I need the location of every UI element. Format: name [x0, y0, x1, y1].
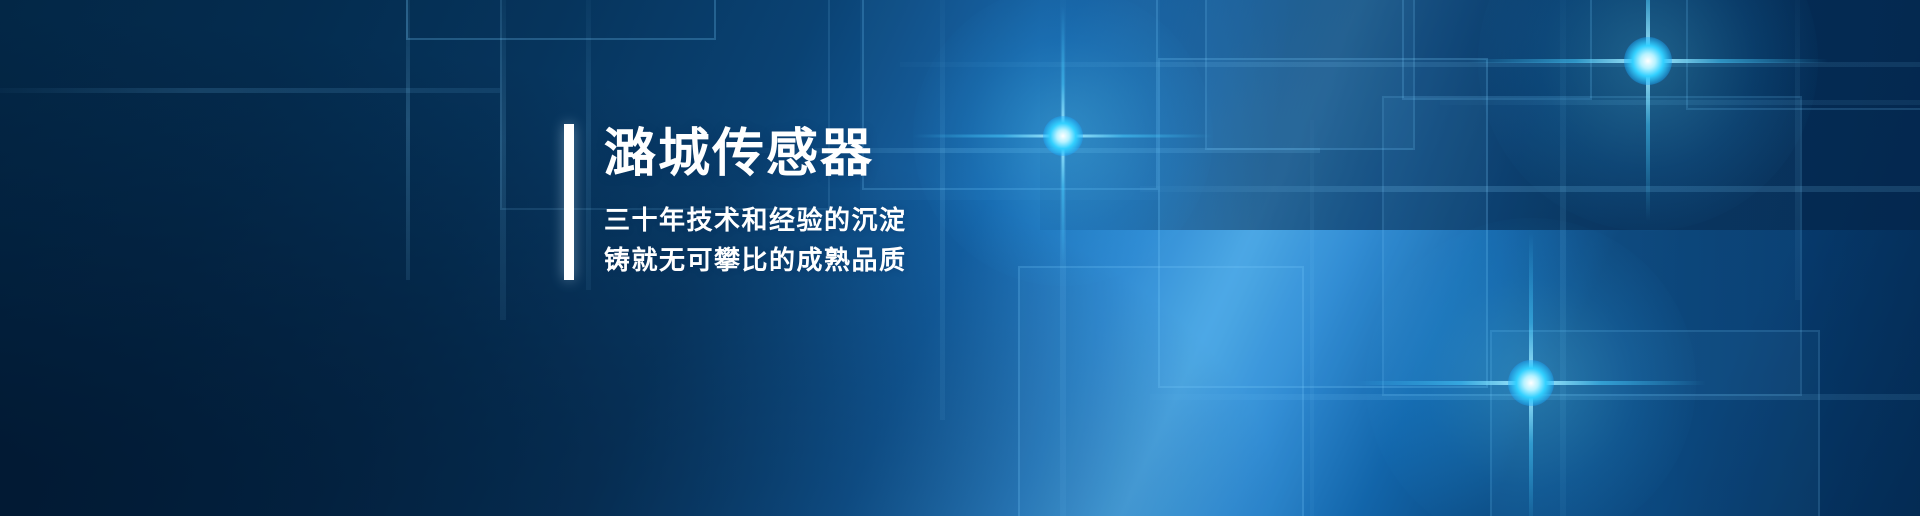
banner-content: 潞城传感器 三十年技术和经验的沉淀 铸就无可攀比的成熟品质 — [564, 124, 907, 280]
banner-subtitle-line-1: 三十年技术和经验的沉淀 — [604, 201, 907, 241]
accent-bar — [564, 124, 574, 280]
banner-subtitle-line-2: 铸就无可攀比的成熟品质 — [604, 241, 907, 281]
hero-banner: 潞城传感器 三十年技术和经验的沉淀 铸就无可攀比的成熟品质 — [0, 0, 1920, 516]
banner-title: 潞城传感器 — [604, 126, 907, 183]
banner-text-column: 潞城传感器 三十年技术和经验的沉淀 铸就无可攀比的成熟品质 — [604, 124, 907, 280]
background-vignette-left — [0, 0, 1920, 516]
